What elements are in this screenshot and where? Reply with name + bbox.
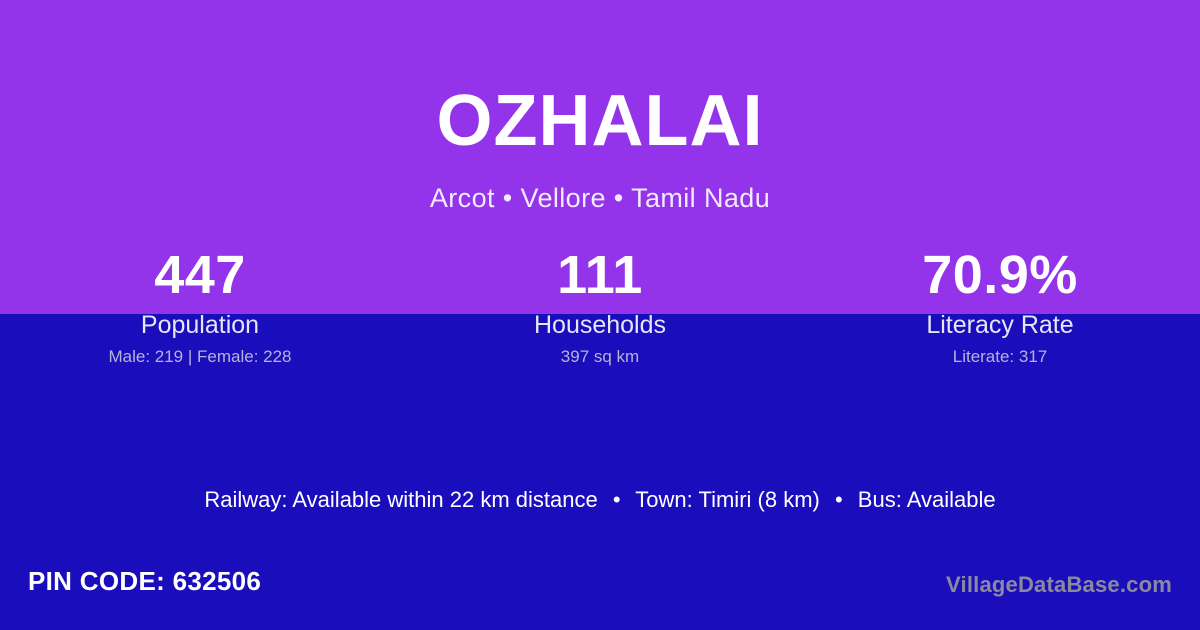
- stat-value: 111: [400, 246, 800, 304]
- stat-label: Literacy Rate: [800, 311, 1200, 339]
- stat-sublabel: 397 sq km: [400, 347, 800, 367]
- stat-population: 447 Population Male: 219 | Female: 228: [0, 246, 400, 367]
- bullet-separator-icon: •: [604, 485, 630, 515]
- village-info-card: OZHALAI Arcot • Vellore • Tamil Nadu 447…: [0, 0, 1200, 630]
- stat-literacy-rate: 70.9% Literacy Rate Literate: 317: [800, 246, 1200, 367]
- stats-row: 447 Population Male: 219 | Female: 228 1…: [0, 246, 1200, 367]
- breadcrumb: Arcot • Vellore • Tamil Nadu: [0, 183, 1200, 214]
- page-title: OZHALAI: [0, 84, 1200, 160]
- stat-sublabel: Literate: 317: [800, 347, 1200, 367]
- stat-label: Households: [400, 311, 800, 339]
- stat-label: Population: [0, 311, 400, 339]
- connectivity-info-line: Railway: Available within 22 km distance…: [0, 485, 1200, 515]
- bullet-separator-icon: •: [826, 485, 852, 515]
- info-town: Town: Timiri (8 km): [635, 487, 820, 512]
- brand-watermark: VillageDataBase.com: [946, 572, 1172, 598]
- stat-sublabel: Male: 219 | Female: 228: [0, 347, 400, 367]
- pin-code: PIN CODE: 632506: [28, 566, 261, 597]
- info-railway: Railway: Available within 22 km distance: [204, 487, 597, 512]
- stat-households: 111 Households 397 sq km: [400, 246, 800, 367]
- info-bus: Bus: Available: [858, 487, 996, 512]
- stat-value: 447: [0, 246, 400, 304]
- footer: PIN CODE: 632506 VillageDataBase.com: [0, 550, 1200, 630]
- stat-value: 70.9%: [800, 246, 1200, 304]
